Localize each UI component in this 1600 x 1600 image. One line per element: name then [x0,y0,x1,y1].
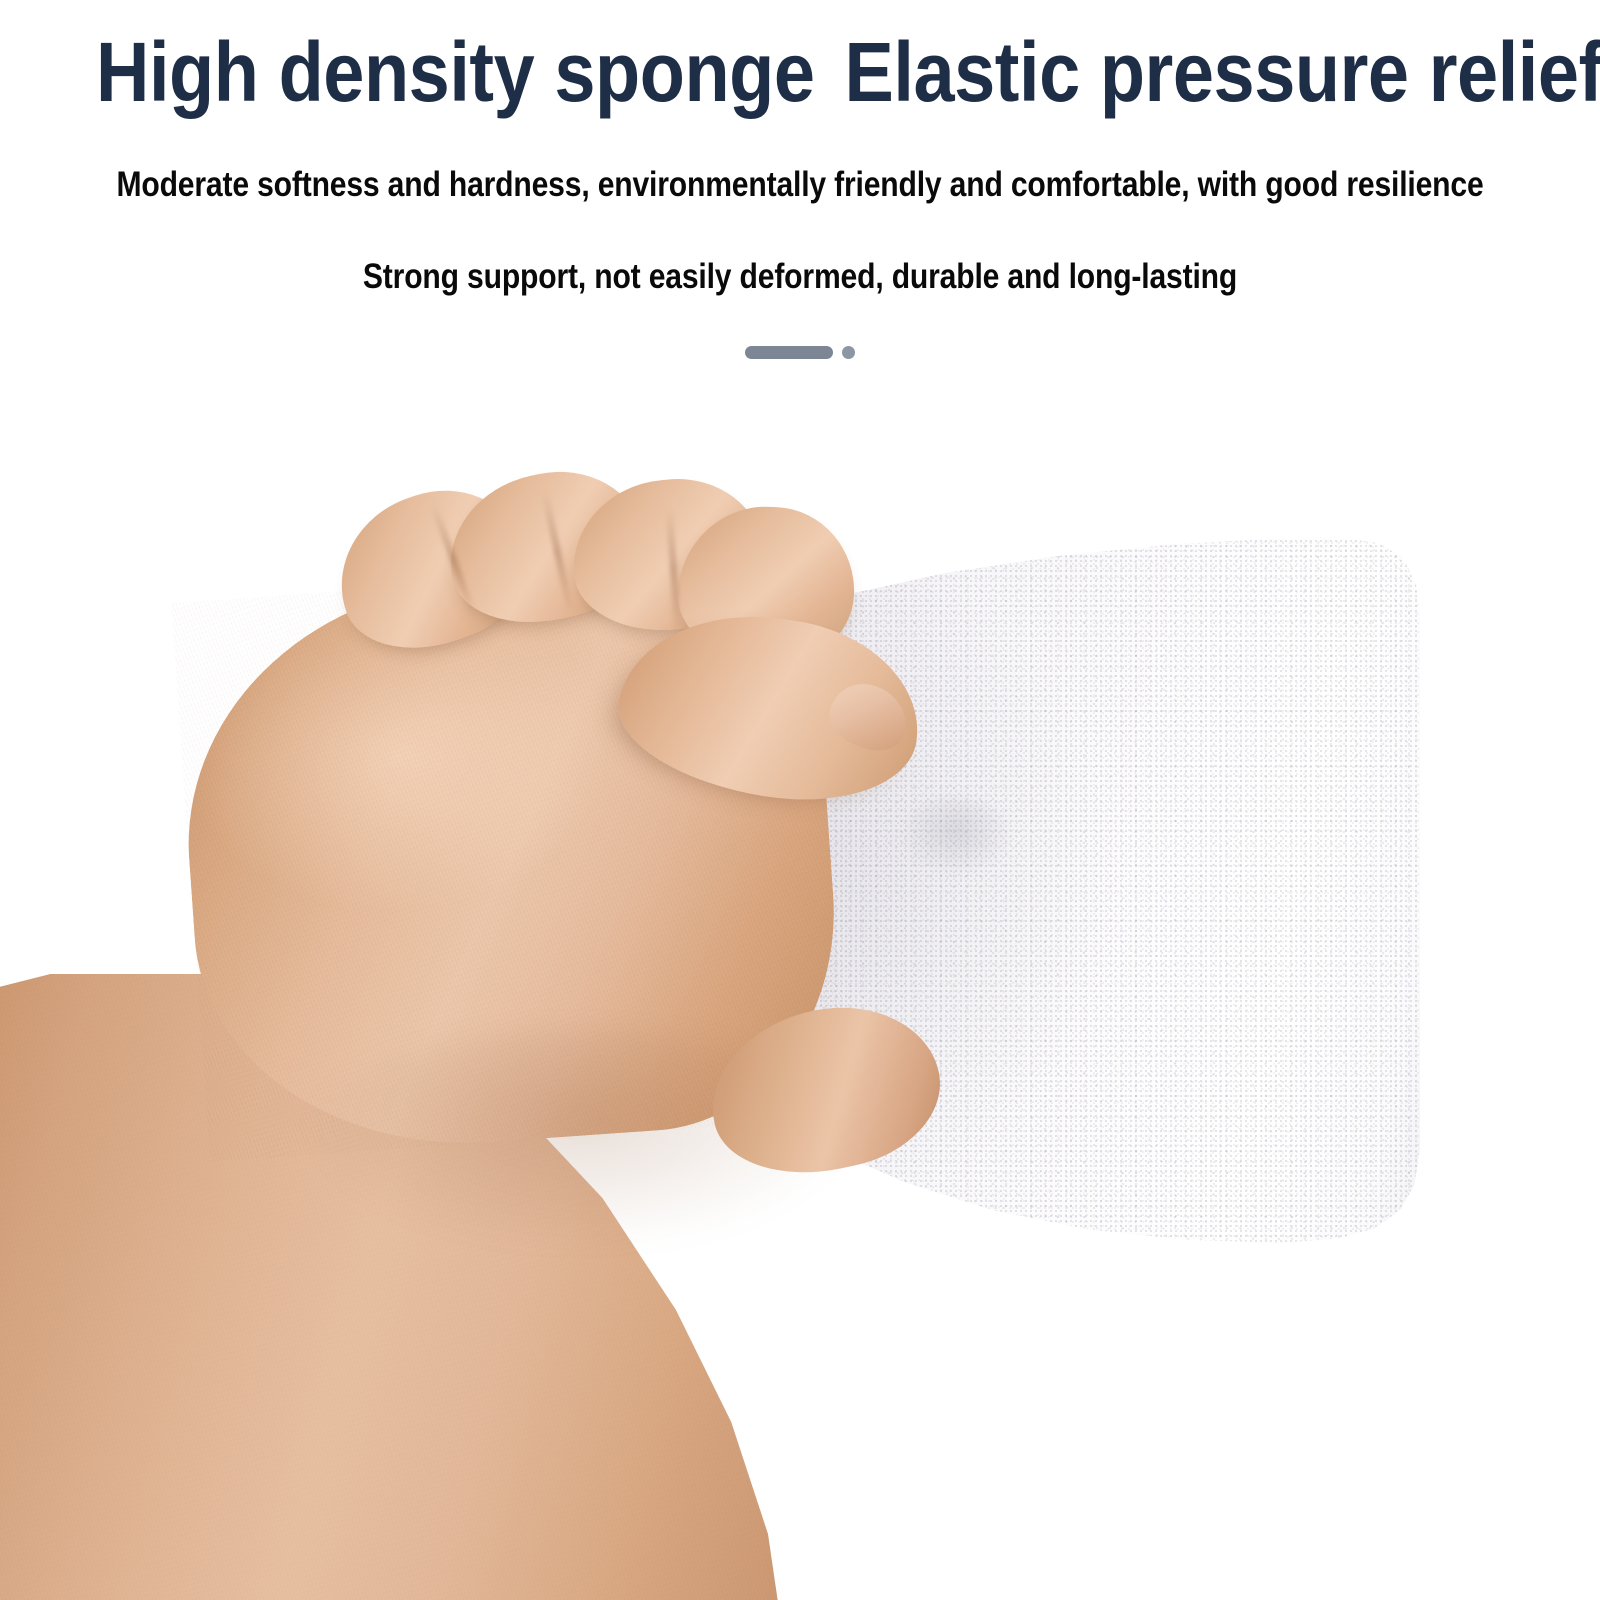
carousel-pagination[interactable] [0,346,1600,359]
subtitle-line-1: Moderate softness and hardness, environm… [112,163,1488,207]
pagination-inactive-dot[interactable] [842,346,855,359]
headline-part-1: High density sponge [96,25,815,119]
pagination-active-bar[interactable] [745,346,833,359]
headline-part-2: Elastic pressure relief [844,25,1600,119]
subtitle-line-2: Strong support, not easily deformed, dur… [112,255,1488,299]
product-photo [0,400,1600,1600]
hand [150,430,890,1170]
product-banner-page: High density spongeElastic pressure reli… [0,0,1600,1600]
page-title: High density spongeElastic pressure reli… [96,20,1504,124]
